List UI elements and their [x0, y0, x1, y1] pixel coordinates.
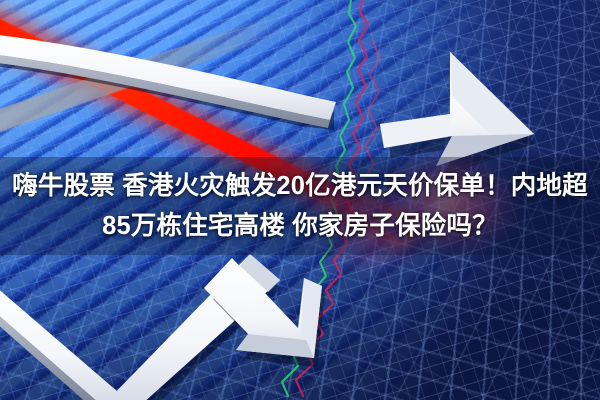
headline-line-2: 85万栋住宅高楼 你家房子保险吗？ — [0, 207, 600, 245]
arrow-shaft-lower-left — [0, 280, 132, 400]
arrow-down-right — [104, 254, 325, 400]
headline-line-1: 嗨牛股票 香港火灾触发20亿港元天价保单！内地超 — [0, 167, 600, 205]
news-thumbnail-image: 嗨牛股票 香港火灾触发20亿港元天价保单！内地超 85万栋住宅高楼 你家房子保险… — [0, 0, 600, 400]
headline: 嗨牛股票 香港火灾触发20亿港元天价保单！内地超 85万栋住宅高楼 你家房子保险… — [0, 157, 600, 255]
